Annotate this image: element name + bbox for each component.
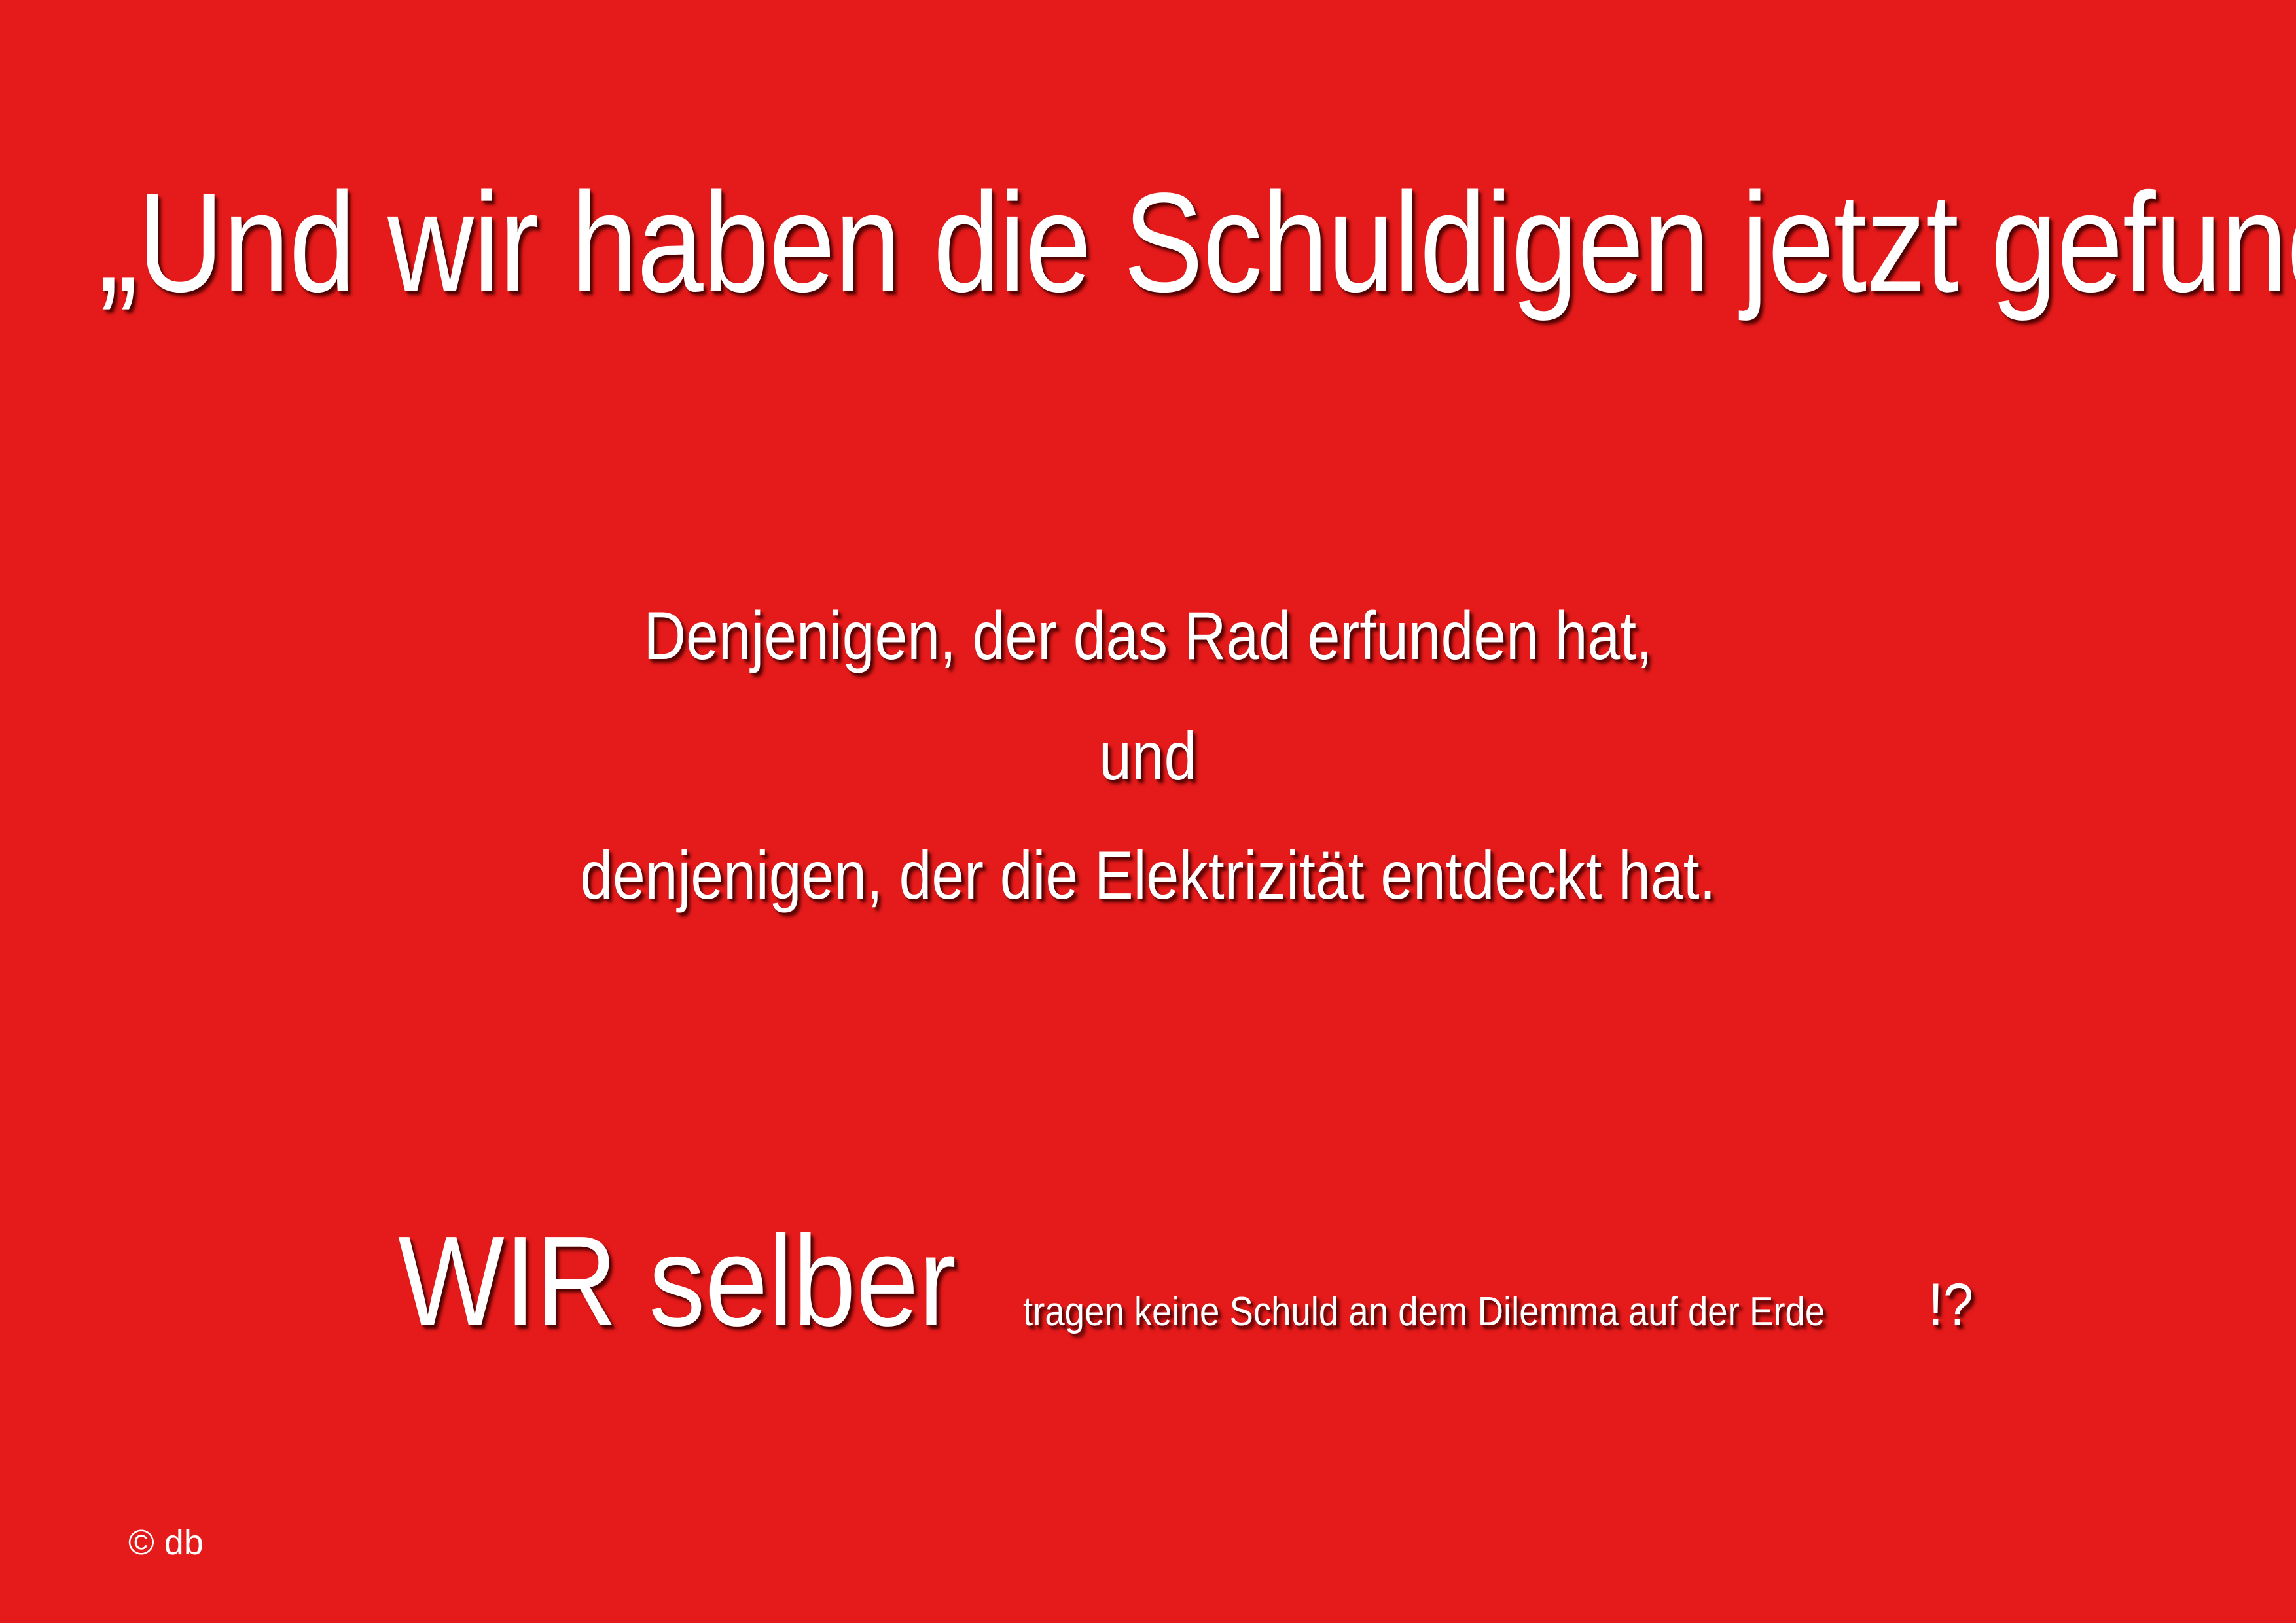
- copyright-credit: © db: [128, 1525, 204, 1560]
- body-line-2-text: und: [1099, 722, 1196, 791]
- body-line-2: und: [0, 722, 2296, 791]
- body-line-1-text: Denjenigen, der das Rad erfunden hat,: [643, 602, 1652, 670]
- body-line-3-text: denjenigen, der die Elektrizität entdeck…: [580, 842, 1715, 910]
- body-line-1: Denjenigen, der das Rad erfunden hat,: [0, 602, 2296, 670]
- body-text-block: Denjenigen, der das Rad erfunden hat, un…: [0, 602, 2296, 910]
- statement-rest: tragen keine Schuld an dem Dilemma auf d…: [1023, 1292, 1825, 1332]
- statement-punctuation: !?: [1928, 1275, 1973, 1335]
- title-row: „Und wir haben die Schuldigen jetzt gefu…: [98, 157, 2225, 327]
- page-title: „Und wir haben die Schuldigen jetzt gefu…: [98, 171, 2296, 313]
- statement-emphasis: WIR selber: [398, 1217, 956, 1346]
- body-line-3: denjenigen, der die Elektrizität entdeck…: [0, 842, 2296, 910]
- slide-canvas: „Und wir haben die Schuldigen jetzt gefu…: [0, 0, 2296, 1623]
- statement-row: WIR selber tragen keine Schuld an dem Di…: [398, 1217, 1978, 1368]
